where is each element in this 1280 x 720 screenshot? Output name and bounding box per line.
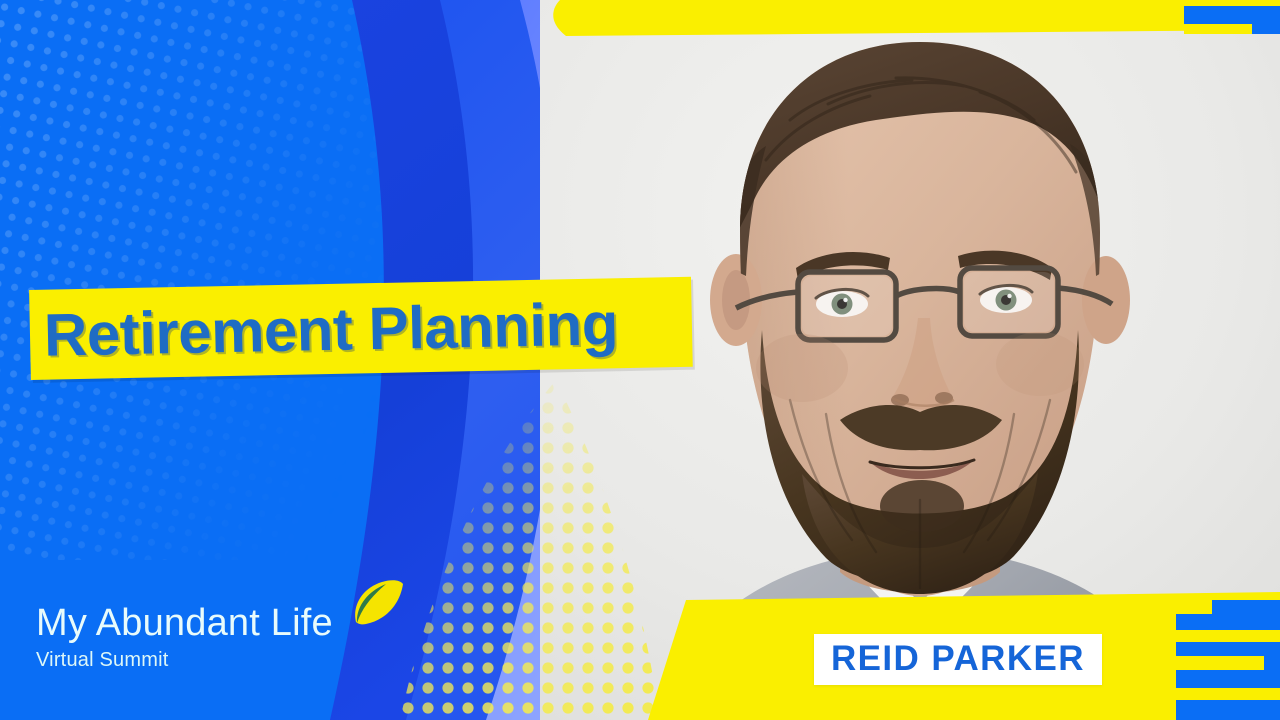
- brand-name: My Abundant Life: [36, 604, 436, 642]
- brand-lockup: My Abundant Life Virtual Summit: [36, 604, 436, 672]
- yellow-stripe: [1176, 688, 1280, 700]
- session-title-band: Retirement Planning: [29, 277, 693, 380]
- blue-stripe: [1176, 614, 1280, 630]
- blue-stripe: [1176, 642, 1280, 656]
- speaker-name: REID PARKER: [831, 639, 1085, 678]
- yellow-stripe: [1176, 630, 1280, 642]
- brand-tagline: Virtual Summit: [36, 649, 436, 672]
- blue-stripe: [1176, 670, 1280, 688]
- promo-slide: Retirement Planning My Abundant Life Vir…: [0, 0, 1280, 720]
- yellow-stripe: [1176, 656, 1264, 670]
- page-title: Retirement Planning: [43, 289, 618, 370]
- speaker-name-plate: REID PARKER: [814, 634, 1102, 685]
- blue-stripe: [1176, 700, 1256, 720]
